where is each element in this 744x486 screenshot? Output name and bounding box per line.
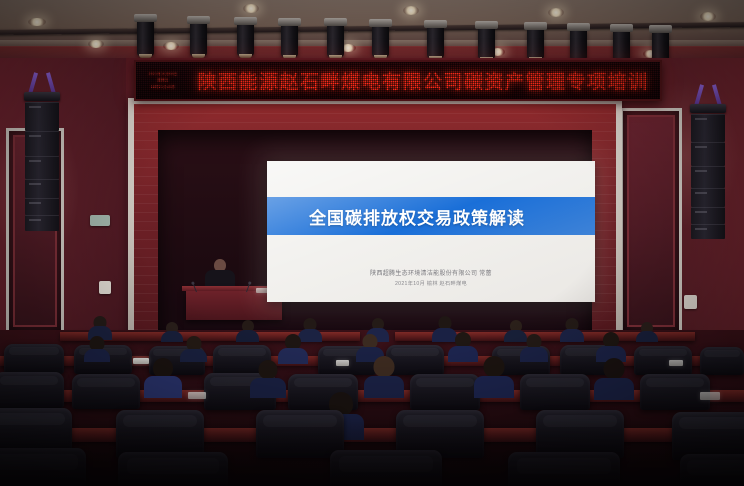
laptop-screen [669,360,683,366]
attendee [636,322,658,342]
attendee [180,336,207,362]
stage-spotlight [427,26,444,58]
attendee [144,358,182,398]
stage-spotlight [190,22,207,56]
audience-chair [536,410,624,458]
conference-hall-photo: 全国碳排放权交易政策解读 陕西超腾生态环境清洁能股份有限公司 常蕾 2021年1… [0,0,744,486]
slide-title: 全国碳排放权交易政策解读 [309,204,525,229]
downlight-icon [403,6,419,15]
stage-spotlight [327,24,344,57]
downlight-icon [88,40,104,48]
downlight-icon [548,8,564,17]
stage-spotlight [652,31,669,61]
slide-subtitle: 陕西超腾生态环境清洁能股份有限公司 常蕾 2021年10月 榆林 赵石畔煤电 [267,269,595,290]
projection-screen: 全国碳排放权交易政策解读 陕西超腾生态环境清洁能股份有限公司 常蕾 2021年1… [267,161,595,302]
right-doorway[interactable] [620,108,682,334]
downlight-icon [243,4,259,13]
audience-chair [680,454,744,486]
audience-chair [4,344,64,374]
slide-subtitle-line1: 陕西超腾生态环境清洁能股份有限公司 常蕾 [267,269,595,280]
wall-equipment-box [90,215,110,226]
audience-chair [256,410,344,458]
stage-spotlight [527,28,544,59]
downlight-icon [700,12,716,21]
attendee [236,320,259,342]
stage-spotlight [372,25,389,57]
wall-switch-plate[interactable] [684,295,697,309]
stage-spotlight [478,27,495,59]
laptop-screen [188,392,206,399]
stage-spotlight [613,30,630,61]
stage-spotlight [570,29,587,60]
slide-title-band: 全国碳排放权交易政策解读 [267,197,595,235]
audience-chair [0,448,86,486]
audience-desk [0,428,744,442]
wall-switch-plate[interactable] [99,281,111,294]
led-clock-time: 18时21分49秒 [140,84,186,90]
audience-chair [508,452,620,486]
downlight-icon [28,18,46,26]
audience-chair [118,452,228,486]
slide-subtitle-line2: 2021年10月 榆林 赵石畔煤电 [267,280,595,290]
laptop-screen [700,392,720,400]
audience-chair [330,450,442,486]
attendee [560,318,584,342]
laptop-screen [336,360,349,366]
audience-chair [520,374,590,410]
right-door-leaf[interactable] [627,115,675,327]
stage-spotlight [137,20,154,56]
attendee [364,356,404,398]
audience-chair [116,410,204,458]
stage-spotlight [237,23,254,56]
audience-chair [410,374,480,410]
attendee [474,356,514,398]
led-scrolling-banner: 2021年10月08日 星期五 18时21分49秒 陕西能源赵石畔煤电有限公司碳… [134,60,662,101]
led-banner-text: 陕西能源赵石畔煤电有限公司碳资产管理专项培训 [186,67,660,94]
stage-spotlight [281,24,298,57]
attendee [84,336,110,362]
audience-chair [0,372,64,408]
attendee [250,360,286,398]
led-banner-clock: 2021年10月08日 星期五 18时21分49秒 [136,71,186,90]
audience-chair [72,374,140,409]
audience-chair [700,347,744,375]
attendee [520,334,548,362]
audience-chair [672,412,744,460]
audience-chair [634,346,692,375]
attendee [594,358,634,400]
downlight-icon [163,42,179,50]
